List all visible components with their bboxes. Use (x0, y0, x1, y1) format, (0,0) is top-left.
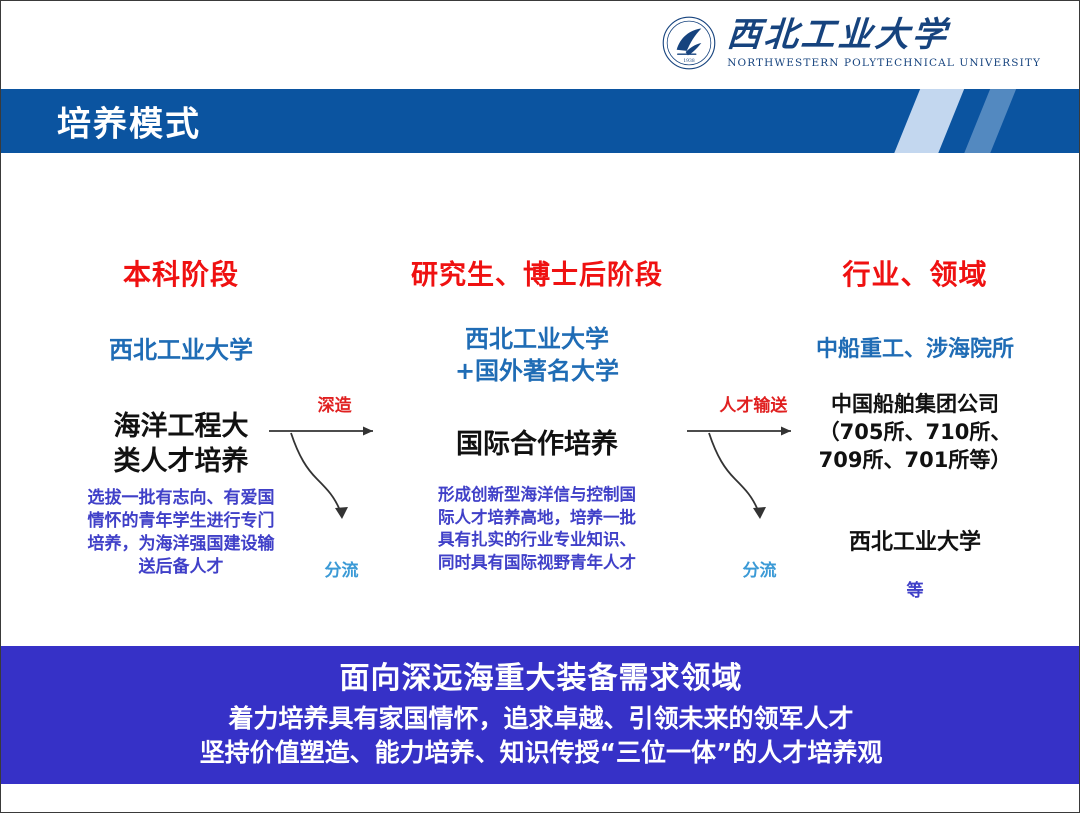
branching-arrow-icon (269, 417, 399, 557)
column-subtitle-line-1: 西北工业大学 (369, 324, 705, 356)
summary-line-1: 面向深远海重大装备需求领域 (340, 661, 743, 698)
slide-root: 1938 西北工业大学 NORTHWESTERN POLYTECHNICAL U… (0, 0, 1080, 813)
logo-chinese-name: 西北工业大学 (726, 18, 950, 52)
column-subtitle: 西北工业大学 (21, 335, 341, 367)
column-note-line-2: 际人才培养高地，培养一批 (369, 507, 705, 529)
flow-arrow-group-2: 人才输送 分流 (687, 391, 817, 581)
column-heading: 研究生、博士后阶段 (369, 253, 705, 292)
arrow-label-diversion: 分流 (324, 556, 358, 581)
column-subtitle: 中船重工、涉海院所 (761, 335, 1069, 364)
svg-text:1938: 1938 (684, 58, 696, 64)
logo-zone: 1938 西北工业大学 NORTHWESTERN POLYTECHNICAL U… (1, 1, 1080, 89)
content-area: 本科阶段 西北工业大学 海洋工程大 类人才培养 选拔一批有志向、有爱国 情怀的青… (1, 153, 1080, 646)
summary-banner: 面向深远海重大装备需求领域 着力培养具有家国情怀，追求卓越、引领未来的领军人才 … (1, 646, 1080, 784)
summary-line-3: 坚持价值塑造、能力培养、知识传授“三位一体”的人才培养观 (200, 738, 883, 769)
column-heading: 行业、领域 (761, 253, 1069, 293)
column-note-line-4: 同时具有国际视野青年人才 (369, 552, 705, 574)
flow-arrow-group-1: 深造 分流 (269, 391, 399, 581)
arrow-label-advance: 深造 (318, 391, 352, 416)
logo-english-name: NORTHWESTERN POLYTECHNICAL UNIVERSITY (727, 58, 1041, 69)
column-note-line-1: 形成创新型海洋信与控制国 (369, 484, 705, 506)
page-title: 培养模式 (57, 97, 201, 146)
column-note-line-3: 具有扎实的行业专业知识、 (369, 529, 705, 551)
column-subtitle-line-2: +国外著名大学 (369, 356, 705, 388)
banner-stripe-icon (888, 89, 968, 153)
summary-line-2: 着力培养具有家国情怀，追求卓越、引领未来的领军人才 (228, 704, 853, 735)
branching-arrow-icon (687, 417, 817, 557)
column-main-text: 国际合作培养 (369, 427, 705, 462)
column-heading: 本科阶段 (21, 253, 341, 293)
arrow-label-diversion: 分流 (742, 556, 776, 581)
title-banner: 培养模式 (1, 89, 1080, 153)
arrow-label-talent-delivery: 人才输送 (719, 391, 787, 416)
column-subtitle: 西北工业大学 +国外著名大学 (369, 324, 705, 387)
banner-stripe-secondary-icon (958, 89, 1020, 153)
bottom-margin (1, 784, 1080, 813)
university-logo: 1938 西北工业大学 NORTHWESTERN POLYTECHNICAL U… (661, 15, 1041, 71)
logo-wordmark: 西北工业大学 NORTHWESTERN POLYTECHNICAL UNIVER… (727, 18, 1041, 69)
stage-column-graduate: 研究生、博士后阶段 西北工业大学 +国外著名大学 国际合作培养 形成创新型海洋信… (369, 153, 705, 574)
nwpu-seal-icon: 1938 (661, 15, 717, 71)
column-note: 形成创新型海洋信与控制国 际人才培养高地，培养一批 具有扎实的行业专业知识、 同… (369, 484, 705, 574)
